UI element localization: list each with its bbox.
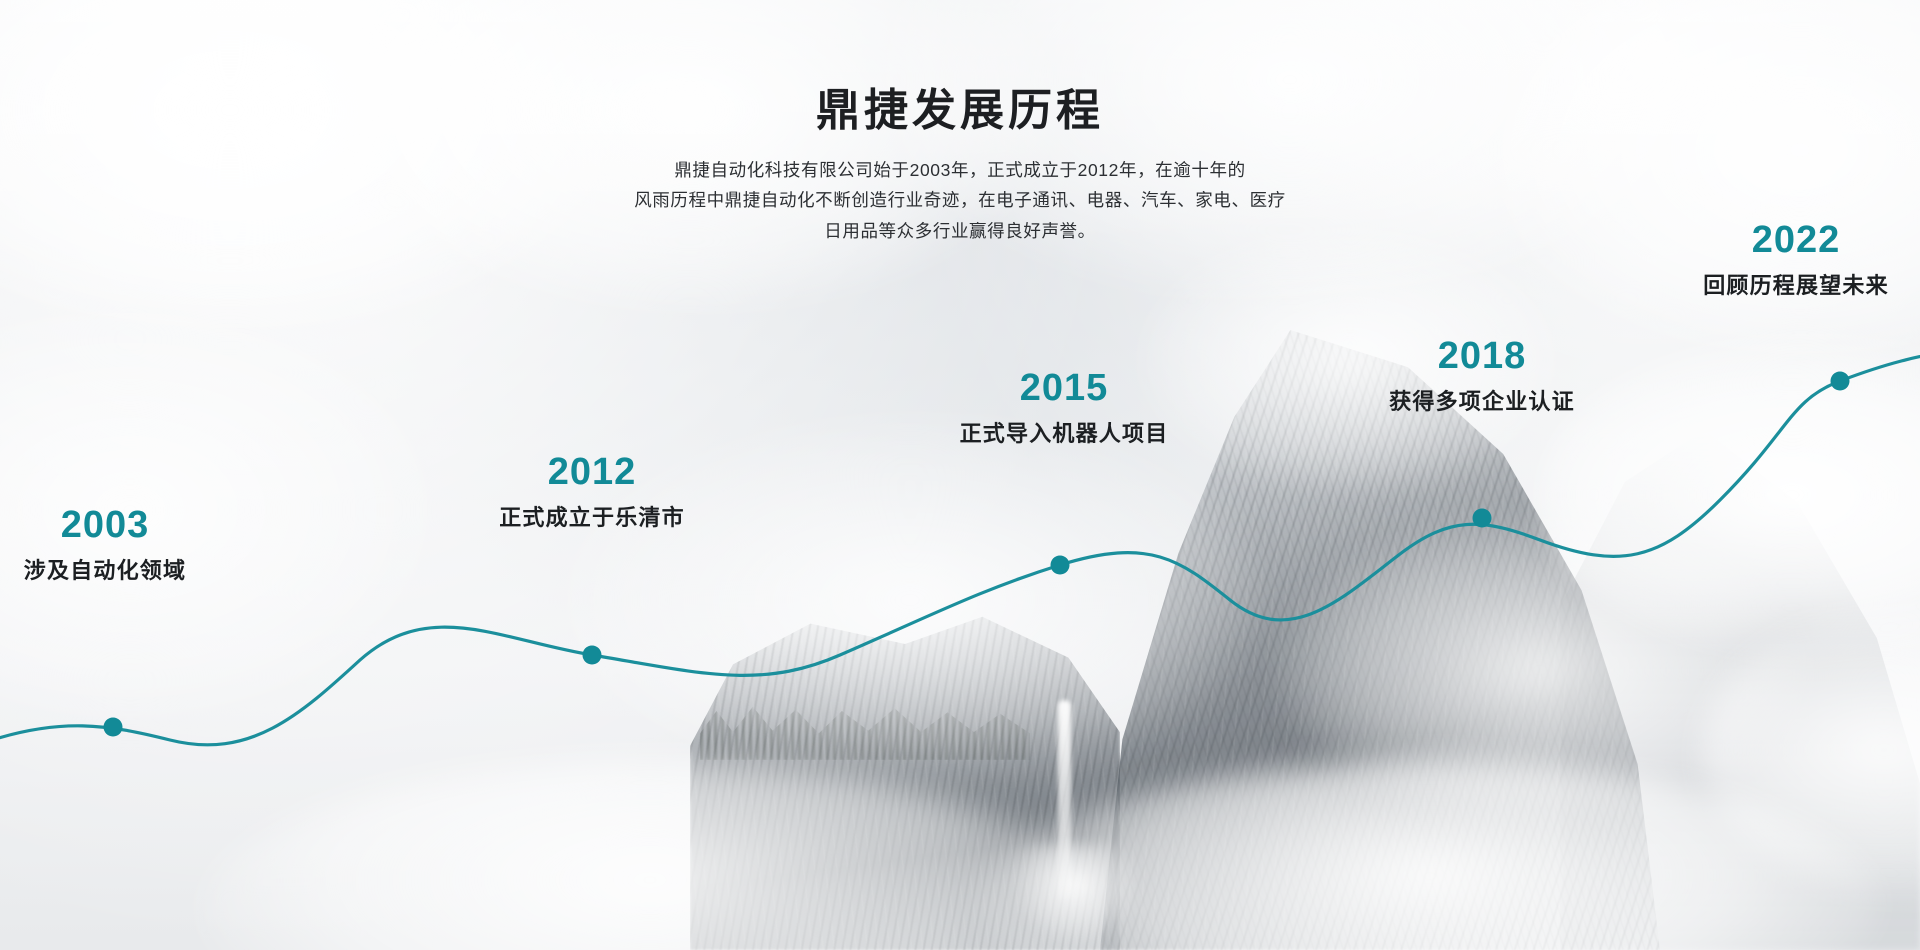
milestone-description: 回顾历程展望未来: [1703, 268, 1889, 300]
timeline-dot-2015[interactable]: [1051, 556, 1070, 575]
header: 鼎捷发展历程 鼎捷自动化科技有限公司始于2003年，正式成立于2012年，在逾十…: [0, 86, 1920, 246]
milestone-description: 正式成立于乐清市: [499, 500, 685, 532]
milestone-year: 2022: [1703, 220, 1889, 262]
subtitle-line-2: 风雨历程中鼎捷自动化不断创造行业奇迹，在电子通讯、电器、汽车、家电、医疗: [0, 185, 1920, 216]
timeline-dot-2003[interactable]: [104, 718, 123, 737]
milestone-description: 正式导入机器人项目: [960, 416, 1169, 448]
page-subtitle: 鼎捷自动化科技有限公司始于2003年，正式成立于2012年，在逾十年的 风雨历程…: [0, 155, 1920, 247]
milestone-year: 2012: [499, 452, 685, 494]
timeline-infographic: 鼎捷发展历程 鼎捷自动化科技有限公司始于2003年，正式成立于2012年，在逾十…: [0, 0, 1920, 950]
timeline-dot-2018[interactable]: [1473, 509, 1492, 528]
milestone-2012[interactable]: 2012正式成立于乐清市: [499, 452, 685, 532]
milestone-2015[interactable]: 2015正式导入机器人项目: [960, 368, 1169, 448]
milestone-2022[interactable]: 2022回顾历程展望未来: [1703, 220, 1889, 300]
milestone-2018[interactable]: 2018获得多项企业认证: [1389, 336, 1575, 416]
milestone-2003[interactable]: 2003涉及自动化领域: [24, 505, 186, 585]
milestone-description: 获得多项企业认证: [1389, 384, 1575, 416]
page-title: 鼎捷发展历程: [0, 86, 1920, 137]
milestone-year: 2018: [1389, 336, 1575, 378]
subtitle-line-1: 鼎捷自动化科技有限公司始于2003年，正式成立于2012年，在逾十年的: [0, 155, 1920, 186]
milestone-year: 2003: [24, 505, 186, 547]
timeline-dot-2022[interactable]: [1831, 372, 1850, 391]
timeline-dot-2012[interactable]: [583, 646, 602, 665]
milestone-description: 涉及自动化领域: [24, 553, 186, 585]
milestone-year: 2015: [960, 368, 1169, 410]
subtitle-line-3: 日用品等众多行业赢得良好声誉。: [0, 216, 1920, 247]
